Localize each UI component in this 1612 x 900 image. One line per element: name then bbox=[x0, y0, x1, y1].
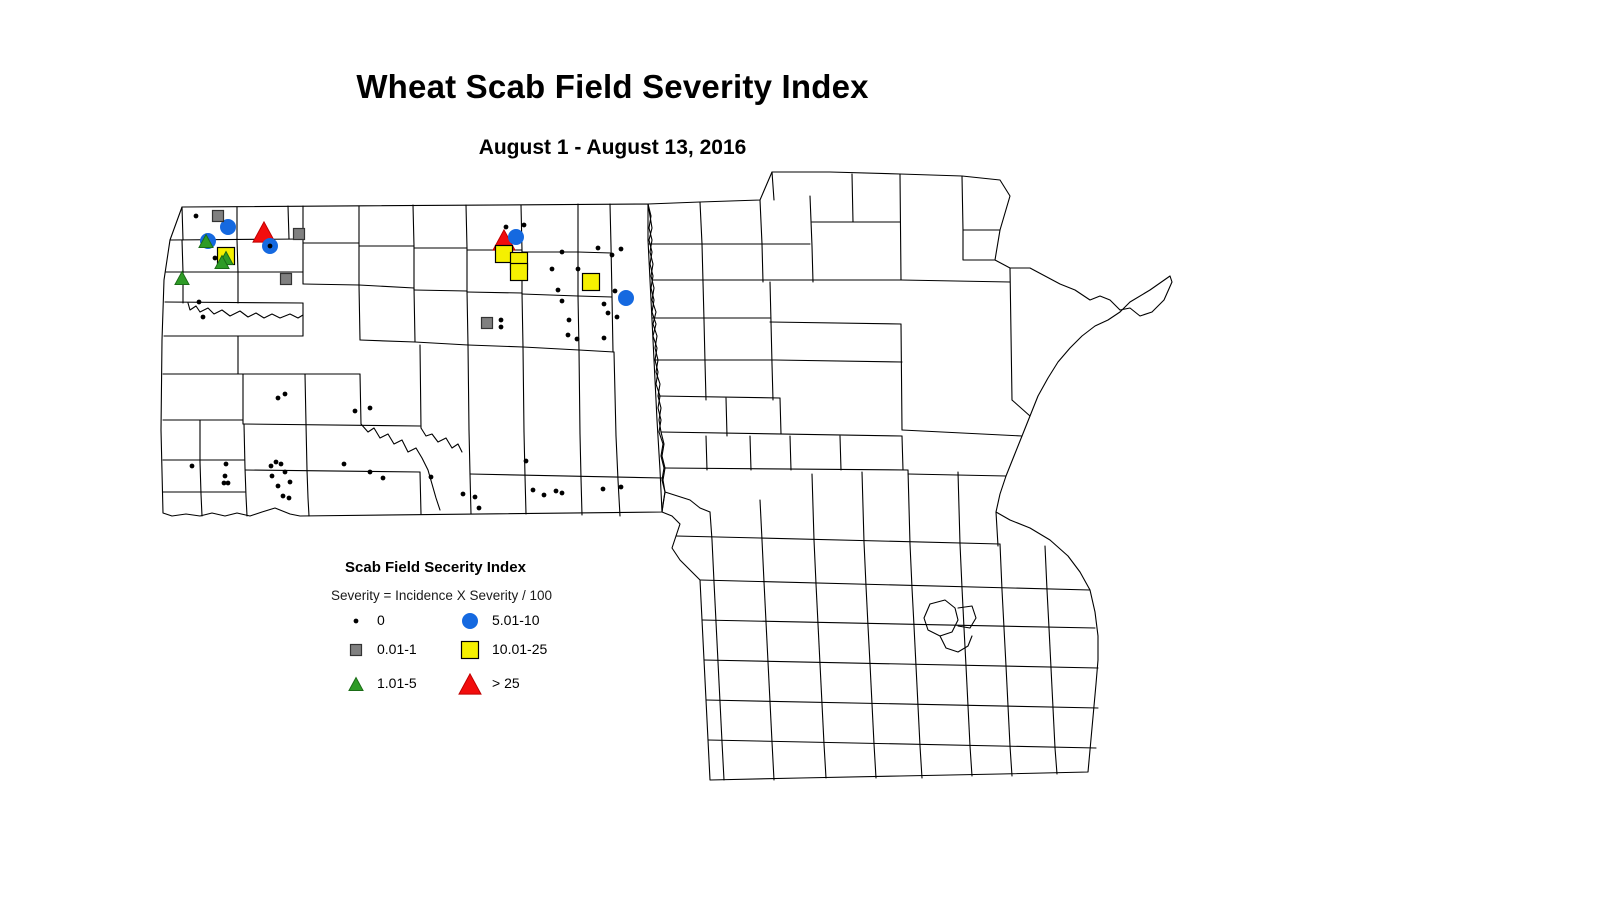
map-point-0 bbox=[567, 318, 571, 322]
map-point-0 bbox=[619, 485, 623, 489]
map-point-0 bbox=[473, 495, 477, 499]
legend-symbol-square-icon bbox=[462, 642, 479, 659]
map-point-0 bbox=[613, 289, 617, 293]
map-point-0 bbox=[554, 489, 558, 493]
map-point-0 bbox=[213, 256, 217, 260]
legend-item[interactable]: 10.01-25 bbox=[462, 641, 548, 659]
map-point-0 bbox=[575, 337, 579, 341]
map-point-0 bbox=[606, 311, 610, 315]
legend-symbol-square-icon bbox=[351, 645, 362, 656]
map-point-0 bbox=[223, 474, 227, 478]
legend-label: 0 bbox=[377, 612, 385, 628]
map-point-0.01-1 bbox=[482, 318, 493, 329]
legend-entries: 00.01-11.01-55.01-1010.01-25> 25 bbox=[349, 612, 547, 694]
map-point-0 bbox=[281, 494, 285, 498]
map-point-0 bbox=[596, 246, 600, 250]
map-point-0 bbox=[560, 299, 564, 303]
legend-item[interactable]: 5.01-10 bbox=[463, 612, 540, 629]
legend-symbol-triangle-icon bbox=[459, 674, 481, 694]
map-point-0 bbox=[461, 492, 465, 496]
legend-label: 5.01-10 bbox=[492, 612, 540, 628]
map-point-0 bbox=[560, 250, 564, 254]
map-point-0 bbox=[550, 267, 554, 271]
map-point-0 bbox=[499, 325, 503, 329]
map-point-1.01-5 bbox=[175, 272, 189, 285]
map-point-0 bbox=[224, 462, 228, 466]
map-point-10.01-25 bbox=[511, 264, 528, 281]
legend-formula: Severity = Incidence X Severity / 100 bbox=[331, 588, 552, 603]
map-point-0.01-1 bbox=[281, 274, 292, 285]
map-point-0 bbox=[542, 493, 546, 497]
legend-item[interactable]: 0 bbox=[354, 612, 385, 628]
legend-symbol-triangle-icon bbox=[349, 678, 363, 691]
legend-item[interactable]: 1.01-5 bbox=[349, 675, 417, 691]
map-point-0 bbox=[615, 315, 619, 319]
map-point-0 bbox=[279, 462, 283, 466]
map-point-0 bbox=[499, 318, 503, 322]
map-point-0.01-1 bbox=[213, 211, 224, 222]
map-point-0 bbox=[276, 484, 280, 488]
legend-title: Scab Field Secerity Index bbox=[345, 559, 527, 576]
map-figure: Scab Field Secerity Index Severity = Inc… bbox=[0, 0, 1612, 900]
map-point-0 bbox=[283, 392, 287, 396]
map-point-0 bbox=[560, 491, 564, 495]
state-outline-north-dakota bbox=[161, 204, 662, 516]
legend-symbol-circle-icon bbox=[463, 614, 478, 629]
legend-label: 1.01-5 bbox=[377, 675, 417, 691]
map-legend: Scab Field Secerity Index Severity = Inc… bbox=[331, 559, 552, 694]
map-point-0 bbox=[368, 470, 372, 474]
legend-label: > 25 bbox=[492, 675, 520, 691]
map-point-10.01-25 bbox=[583, 274, 600, 291]
map-point-0 bbox=[268, 244, 272, 248]
map-point-0 bbox=[601, 487, 605, 491]
legend-label: 0.01-1 bbox=[377, 641, 417, 657]
map-point-0 bbox=[342, 462, 346, 466]
map-point-5.01-10 bbox=[619, 291, 634, 306]
map-point-0 bbox=[269, 464, 273, 468]
map-point-0 bbox=[556, 288, 560, 292]
map-point-0 bbox=[576, 267, 580, 271]
map-point-0 bbox=[477, 506, 481, 510]
map-point-0 bbox=[276, 396, 280, 400]
map-point-0 bbox=[194, 214, 198, 218]
map-point-0 bbox=[381, 476, 385, 480]
map-point-0 bbox=[602, 336, 606, 340]
map-point-0 bbox=[353, 409, 357, 413]
map-point-0 bbox=[619, 247, 623, 251]
map-point-0 bbox=[190, 464, 194, 468]
map-point-0 bbox=[226, 481, 230, 485]
legend-label: 10.01-25 bbox=[492, 641, 547, 657]
map-point-0 bbox=[602, 302, 606, 306]
map-point-0 bbox=[524, 459, 528, 463]
map-point-0 bbox=[201, 315, 205, 319]
legend-item[interactable]: > 25 bbox=[459, 674, 520, 694]
state-outline-minnesota bbox=[648, 172, 1172, 780]
map-point-0 bbox=[504, 225, 508, 229]
legend-symbol-dot-icon bbox=[354, 619, 358, 623]
map-point-0 bbox=[368, 406, 372, 410]
legend-item[interactable]: 0.01-1 bbox=[351, 641, 417, 657]
map-point-0 bbox=[197, 300, 201, 304]
map-point-0 bbox=[222, 481, 226, 485]
map-point-0 bbox=[288, 480, 292, 484]
map-point-0.01-1 bbox=[294, 229, 305, 240]
map-point-0 bbox=[274, 460, 278, 464]
map-point-5.01-10 bbox=[509, 230, 524, 245]
map-point-0 bbox=[531, 488, 535, 492]
map-point-0 bbox=[287, 496, 291, 500]
map-point-0 bbox=[270, 474, 274, 478]
map-point-0 bbox=[522, 223, 526, 227]
map-point-0 bbox=[283, 470, 287, 474]
map-point-0 bbox=[610, 253, 614, 257]
map-point-0 bbox=[429, 475, 433, 479]
map-counties-layer bbox=[161, 172, 1172, 780]
map-point-0 bbox=[566, 333, 570, 337]
data-points-layer bbox=[175, 211, 634, 511]
